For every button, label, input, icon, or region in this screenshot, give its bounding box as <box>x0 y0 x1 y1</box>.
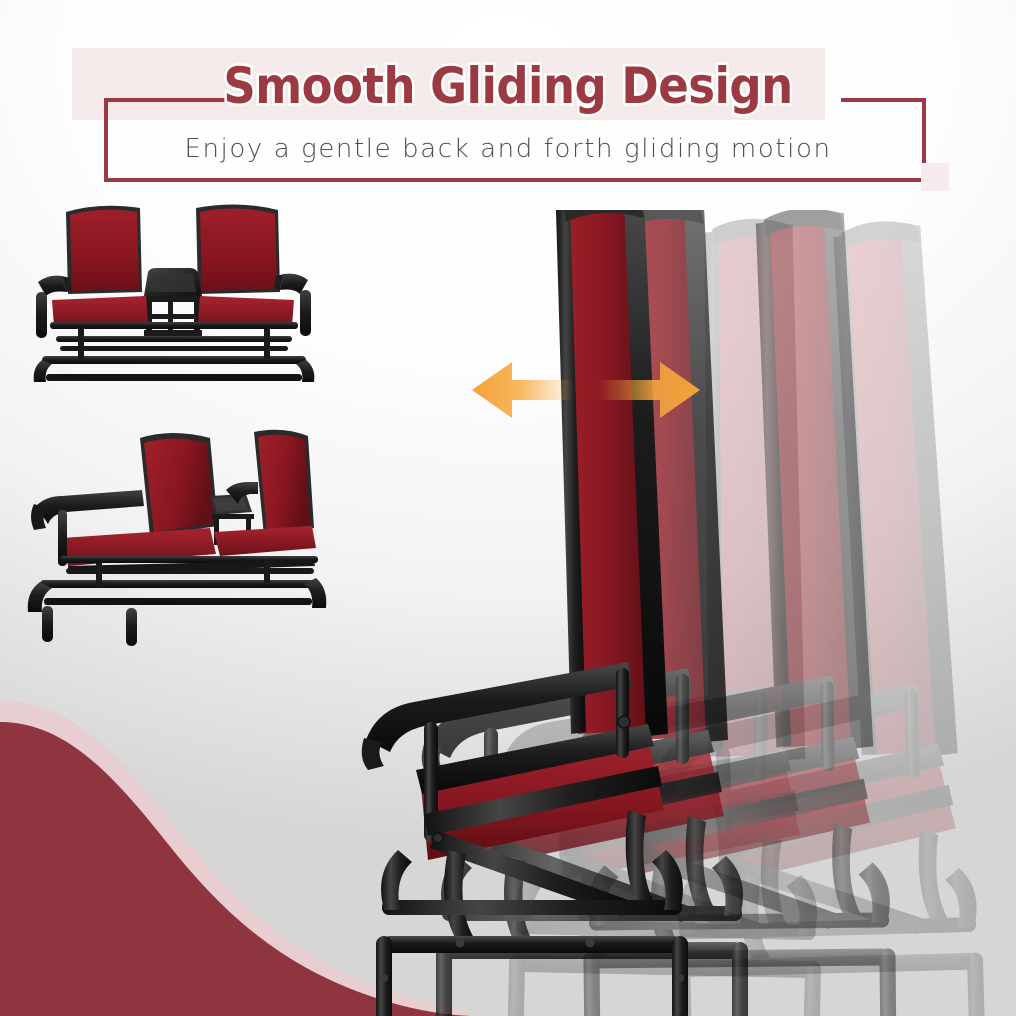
header-frame-corner-accent <box>921 163 949 191</box>
page-subtitle: Enjoy a gentle back and forth gliding mo… <box>0 134 1016 164</box>
glider-side-view-motion-image <box>300 210 1016 1016</box>
arrow-left-icon <box>472 362 574 418</box>
page-title: Smooth Gliding Design <box>0 57 1016 115</box>
glider-angled-view-image <box>14 416 334 646</box>
glider-front-view-image <box>26 196 336 386</box>
infographic-canvas: Smooth Gliding Design Enjoy a gentle bac… <box>0 0 1016 1016</box>
bidirectional-glide-arrows-icon <box>470 354 702 426</box>
arrow-right-icon <box>598 362 700 418</box>
